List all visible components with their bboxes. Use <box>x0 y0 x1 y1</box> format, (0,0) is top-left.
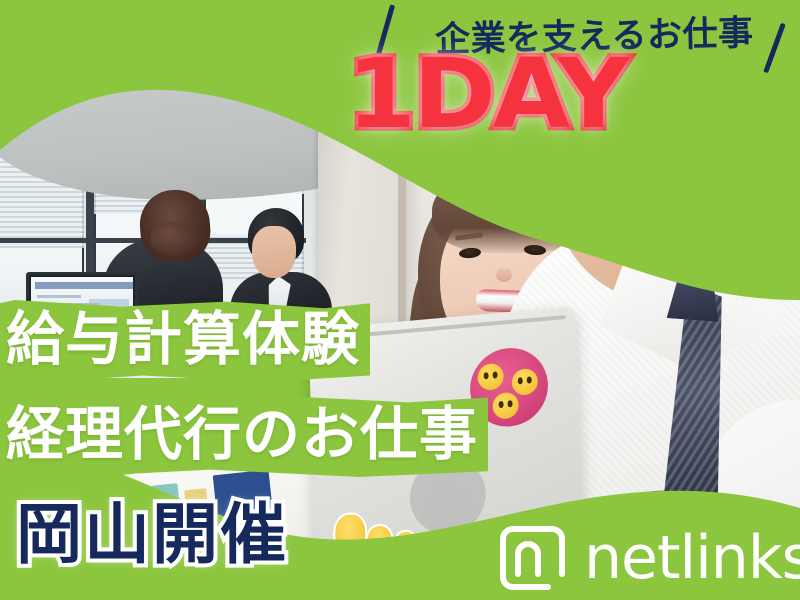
netlinks-wordmark: netlinks <box>584 528 800 588</box>
location-text: 岡山開催 <box>16 502 288 568</box>
netlinks-logo: netlinks <box>496 522 800 594</box>
headline-1day: 1DAY <box>347 46 627 142</box>
highlight-band-2: 経理代行のお仕事 <box>0 395 488 477</box>
promo-banner: 企業を支えるお仕事 1DAY 給与計算体験 経理代行のお仕事 岡山開催 netl… <box>0 0 800 600</box>
background-person-bun <box>150 222 198 256</box>
woman-nose <box>496 268 512 282</box>
band-text-2: 経理代行のお仕事 <box>6 405 478 463</box>
background-person-standing-face <box>252 226 296 278</box>
netlinks-mark-icon <box>496 522 568 594</box>
band-text-1: 給与計算体験 <box>6 310 360 368</box>
highlight-band-1: 給与計算体験 <box>0 300 370 382</box>
